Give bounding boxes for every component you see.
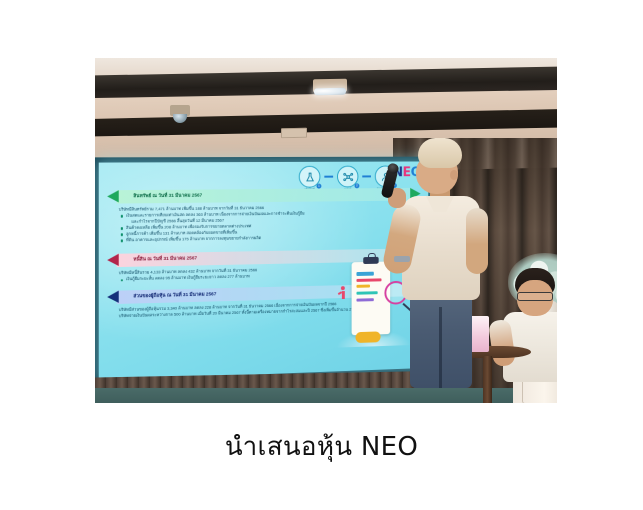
slide-content: NEO 1 ผลิตภัณฑ์ xyxy=(99,161,428,380)
chevron-left-icon xyxy=(107,190,119,202)
presenter-hair xyxy=(418,138,462,168)
glasses-icon xyxy=(517,292,553,301)
chevron-left-icon xyxy=(107,291,119,304)
seated-panelist xyxy=(495,268,557,403)
process-connector-1 xyxy=(324,176,333,178)
dome-camera-icon xyxy=(170,105,190,116)
wristwatch xyxy=(394,256,410,262)
person-figure-icon xyxy=(338,286,347,304)
section-heading-liabilities: หนี้สิน ณ วันที่ 31 มีนาคม 2567 xyxy=(133,256,197,264)
chevron-left-icon xyxy=(107,254,119,267)
flask-icon: 1 ผลิตภัณฑ์ xyxy=(299,166,321,188)
spotlight-icon xyxy=(313,79,347,93)
projection-screen: NEO 1 ผลิตภัณฑ์ xyxy=(99,161,428,380)
wall-plate xyxy=(281,128,307,138)
clipboard-clip-icon xyxy=(363,257,378,264)
section-header-bar: สินทรัพย์ ณ วันที่ 31 มีนาคม 2567 xyxy=(117,188,412,204)
presenter-ear xyxy=(450,170,458,180)
photo-caption: นำเสนอหุ้น NEO xyxy=(0,426,643,467)
process-connector-2 xyxy=(362,175,371,177)
presenter-right-arm xyxy=(466,208,488,274)
section-heading-assets: สินทรัพย์ ณ วันที่ 31 มีนาคม 2567 xyxy=(133,193,202,201)
section-header-assets: สินทรัพย์ ณ วันที่ 31 มีนาคม 2567 xyxy=(117,188,412,204)
network-icon: 2 แบรนด์ xyxy=(337,166,358,188)
section-body-assets: บริษัทมีสินทรัพย์รวม 7,471 ล้านบาท เพิ่ม… xyxy=(119,204,410,244)
presenter-jeans xyxy=(410,293,472,388)
section-heading-equity: ส่วนของผู้ถือหุ้น ณ วันที่ 31 มีนาคม 256… xyxy=(133,292,216,301)
coin-stack-icon xyxy=(355,331,380,343)
presenter xyxy=(382,138,502,388)
presentation-photo: NEO 1 ผลิตภัณฑ์ xyxy=(95,58,557,403)
